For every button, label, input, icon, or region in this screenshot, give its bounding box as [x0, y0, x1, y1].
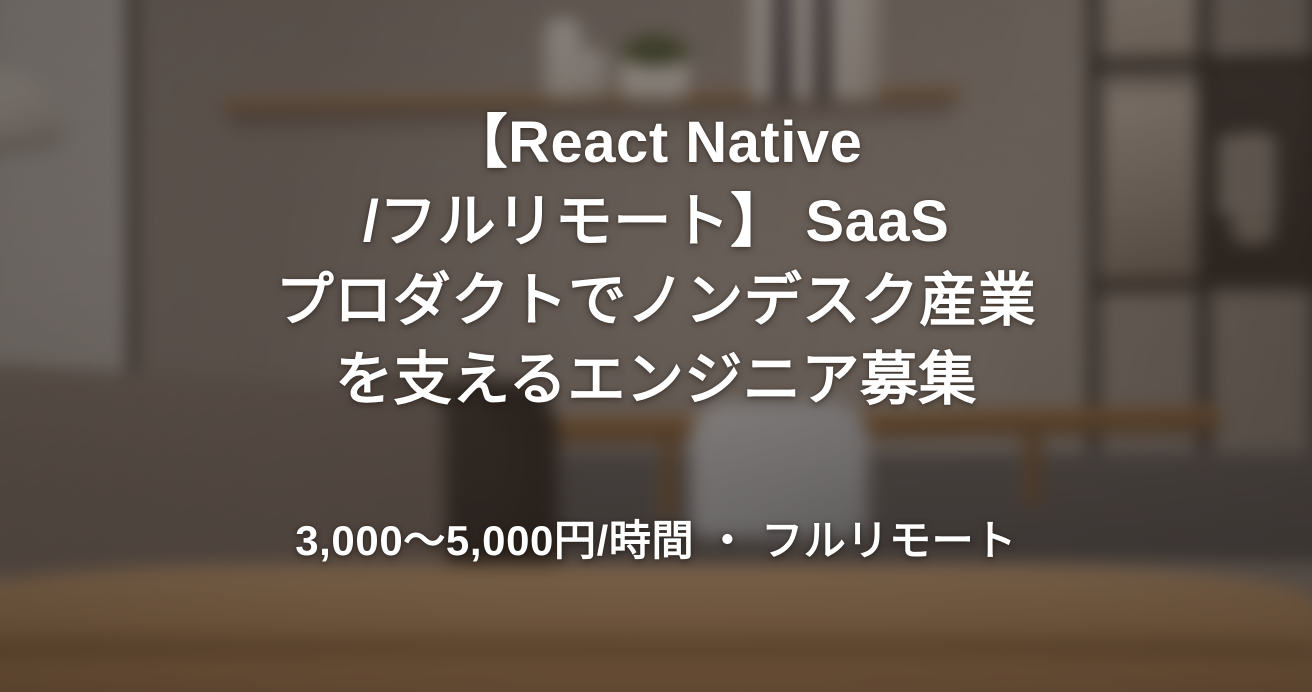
hero-subtitle: 3,000〜5,000円/時間 ・ フルリモート — [295, 420, 1017, 566]
hero-banner: 【React Native /フルリモート】 SaaS プロダクトでノンデスク産… — [0, 0, 1312, 692]
page-title: 【React Native /フルリモート】 SaaS プロダクトでノンデスク産… — [226, 104, 1086, 420]
hero-content: 【React Native /フルリモート】 SaaS プロダクトでノンデスク産… — [0, 0, 1312, 692]
